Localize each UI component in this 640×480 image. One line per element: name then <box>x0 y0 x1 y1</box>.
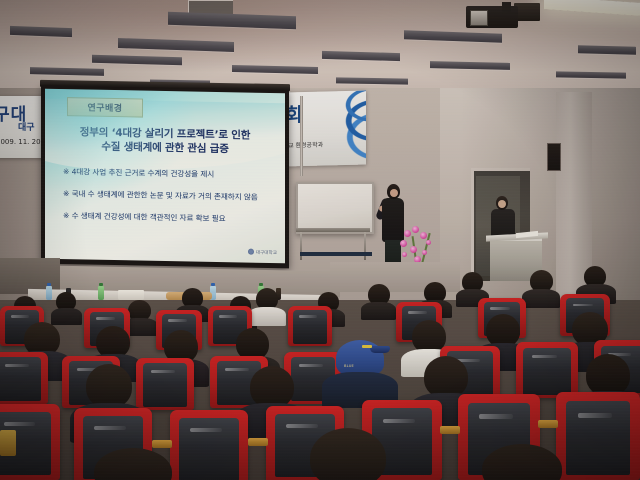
seat-highlight <box>573 304 594 306</box>
person-head <box>310 428 386 480</box>
bottle-cap <box>211 283 215 286</box>
slide-institution-logo: 대구대학교 <box>248 249 277 257</box>
seat-highlight <box>299 315 317 317</box>
projector-bracket <box>502 2 511 12</box>
auditorium-seat[interactable] <box>288 306 332 346</box>
presenter-face <box>390 189 398 197</box>
seat-highlight <box>479 414 513 419</box>
auditorium-seat[interactable] <box>516 342 578 398</box>
ceiling-light-fixture <box>578 45 636 55</box>
person-shoulders <box>522 289 560 308</box>
slide-bullet: ※ 4대강 사업 추진 근거로 수계의 건강성을 제시 <box>63 167 273 181</box>
auditorium-seat[interactable] <box>556 392 640 480</box>
person-shoulders <box>361 302 396 320</box>
seat-highlight <box>151 370 175 373</box>
auditorium-seat[interactable] <box>136 358 194 410</box>
seat-highlight <box>286 424 318 428</box>
seat-highlight <box>578 413 612 418</box>
seat-highlight <box>532 355 557 358</box>
cap-brim <box>370 346 390 353</box>
seat-cushion <box>293 310 326 344</box>
orchid-bloom <box>420 232 427 239</box>
slide-logo-label: 대구대학교 <box>256 251 277 256</box>
auditorium-seat[interactable] <box>0 352 48 404</box>
cap-logo <box>362 345 372 348</box>
water-bottle <box>46 286 52 300</box>
projector-lens <box>470 10 488 26</box>
seat-armrest <box>0 430 16 456</box>
paper-stack <box>118 290 144 300</box>
seat-cushion <box>0 357 41 401</box>
seat-highlight <box>225 368 249 371</box>
seat-highlight <box>408 311 427 313</box>
cap-text: BLUE <box>344 364 354 368</box>
seat-armrest <box>152 440 172 448</box>
projection-screen: 연구배경 정부의 ‘4대강 살리기 프로젝트’로 인한 수질 생태계에 관한 관… <box>45 89 285 264</box>
whiteboard-marker-tray <box>296 228 370 232</box>
slide-bullet: ※ 수 생태계 건강성에 대한 객관적인 자료 확보 필요 <box>63 211 273 225</box>
slide-section-tag: 연구배경 <box>67 97 143 117</box>
seat-highlight <box>383 419 416 424</box>
institution-emblem-icon <box>248 249 254 255</box>
seat-highlight <box>96 317 115 319</box>
orchid-bloom <box>422 250 427 255</box>
whiteboard <box>296 182 374 234</box>
orchid-bloom <box>412 226 419 233</box>
ceiling-shading <box>0 0 640 92</box>
seat-cushion <box>179 418 238 480</box>
auditorium-seat[interactable] <box>170 410 248 480</box>
orchid-bloom <box>402 252 407 257</box>
person-head <box>250 366 294 408</box>
seat-armrest <box>440 426 460 434</box>
ceiling-projector <box>466 2 540 32</box>
ceiling-light-fixture <box>336 77 408 84</box>
person-head <box>424 356 468 398</box>
seat-cushion <box>566 401 630 475</box>
seat-highlight <box>190 428 222 432</box>
seat-highlight <box>490 307 510 309</box>
bottle-cap <box>99 283 103 286</box>
seat-highlight <box>5 364 29 367</box>
orchid-bloom <box>400 240 407 247</box>
projection-screen-frame: 연구배경 정부의 ‘4대강 살리기 프로젝트’로 인한 수질 생태계에 관한 관… <box>41 86 289 269</box>
seat-highlight <box>168 319 187 321</box>
seat-cushion <box>523 348 570 395</box>
slide-title: 정부의 ‘4대강 살리기 프로젝트’로 인한 수질 생태계에 관한 관심 급증 <box>53 125 277 157</box>
seat-highlight <box>94 426 126 430</box>
orchid-bloom <box>404 230 411 237</box>
slide-bullet: ※ 국내 수 생태계에 관한한 논문 및 자료가 거의 존재하지 않음 <box>63 189 273 203</box>
person-shoulders <box>51 308 82 325</box>
orchid-bloom <box>410 246 417 253</box>
banner-swoosh-graphic <box>310 91 366 166</box>
front-baseboard <box>300 252 372 256</box>
seat-cushion <box>143 363 187 407</box>
orchid-bloom <box>426 240 431 245</box>
green-bottle <box>98 286 104 300</box>
standing-person-face <box>498 200 506 208</box>
person-head <box>86 364 132 408</box>
bottle-cap <box>47 283 51 286</box>
seat-highlight <box>4 422 35 426</box>
seat-armrest <box>248 438 268 446</box>
slide-section-tag-label: 연구배경 <box>87 101 122 115</box>
person-head <box>586 354 630 396</box>
bottle-cap <box>259 283 263 286</box>
lecture-hall-photo: 구대 대구 2009. 11. 20 발표회 표회 대구대학교 환경공학과 연구… <box>0 0 640 480</box>
slide-bullet-list: ※ 4대강 사업 추진 근거로 수계의 건강성을 제시 ※ 국내 수 생태계에 … <box>63 167 273 237</box>
banner-left-date: 2009. 11. 20 <box>0 138 41 146</box>
seat-highlight <box>219 315 237 317</box>
seat-highlight <box>11 315 29 317</box>
seat-highlight <box>299 364 323 367</box>
banner-left-line2: 대구 <box>18 120 35 133</box>
seat-armrest <box>538 420 558 428</box>
banner-pole <box>300 96 303 176</box>
person-shoulders-light <box>248 307 286 326</box>
